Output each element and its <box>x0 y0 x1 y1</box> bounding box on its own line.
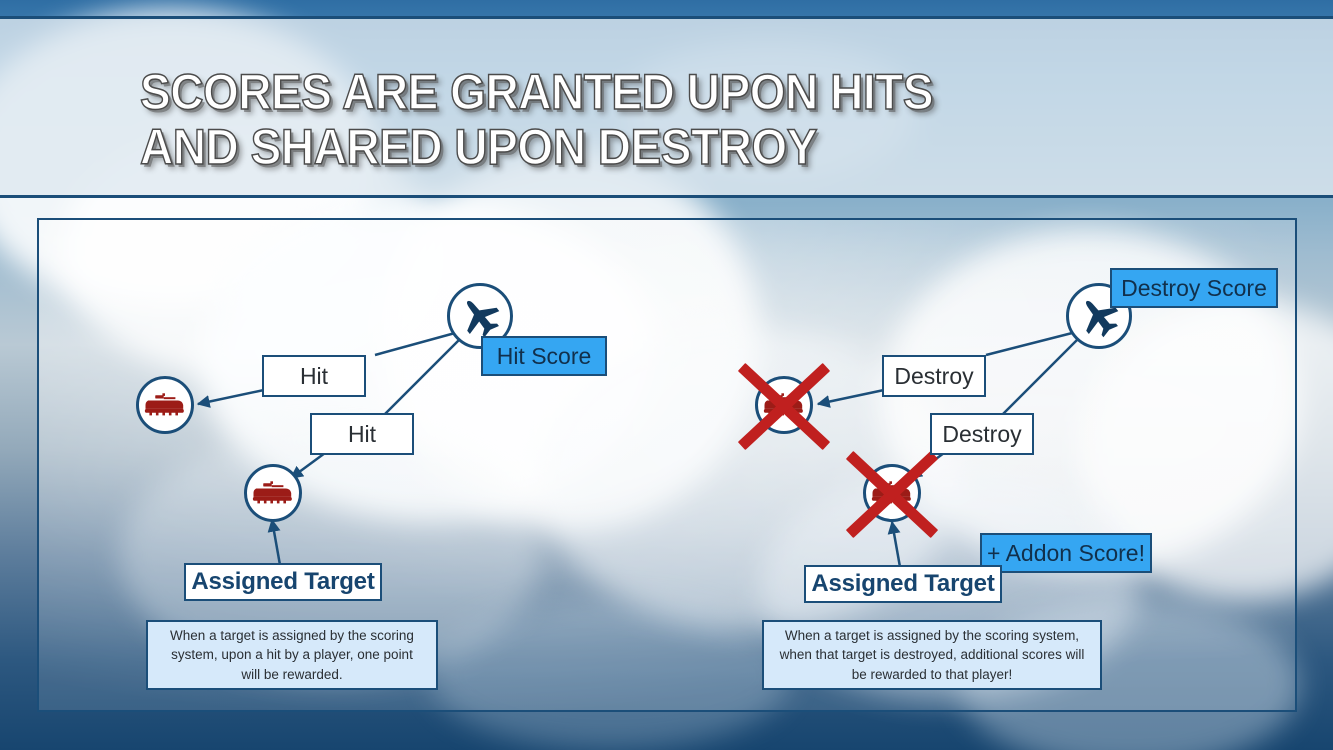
destroyed-x-icon-1 <box>726 348 842 464</box>
right-edge-label-2[interactable]: Destroy <box>930 413 1034 455</box>
destroy-score-label[interactable]: Destroy Score <box>1110 268 1278 308</box>
slide-root: SCORES ARE GRANTED UPON HITS AND SHARED … <box>0 0 1333 750</box>
right-diagram: Destroy Destroy Destroy Score + Addon Sc… <box>0 0 1333 750</box>
right-edge-label-1[interactable]: Destroy <box>882 355 986 397</box>
right-assigned-target-label[interactable]: Assigned Target <box>804 565 1002 603</box>
addon-score-label[interactable]: + Addon Score! <box>980 533 1152 573</box>
right-caption: When a target is assigned by the scoring… <box>762 620 1102 690</box>
